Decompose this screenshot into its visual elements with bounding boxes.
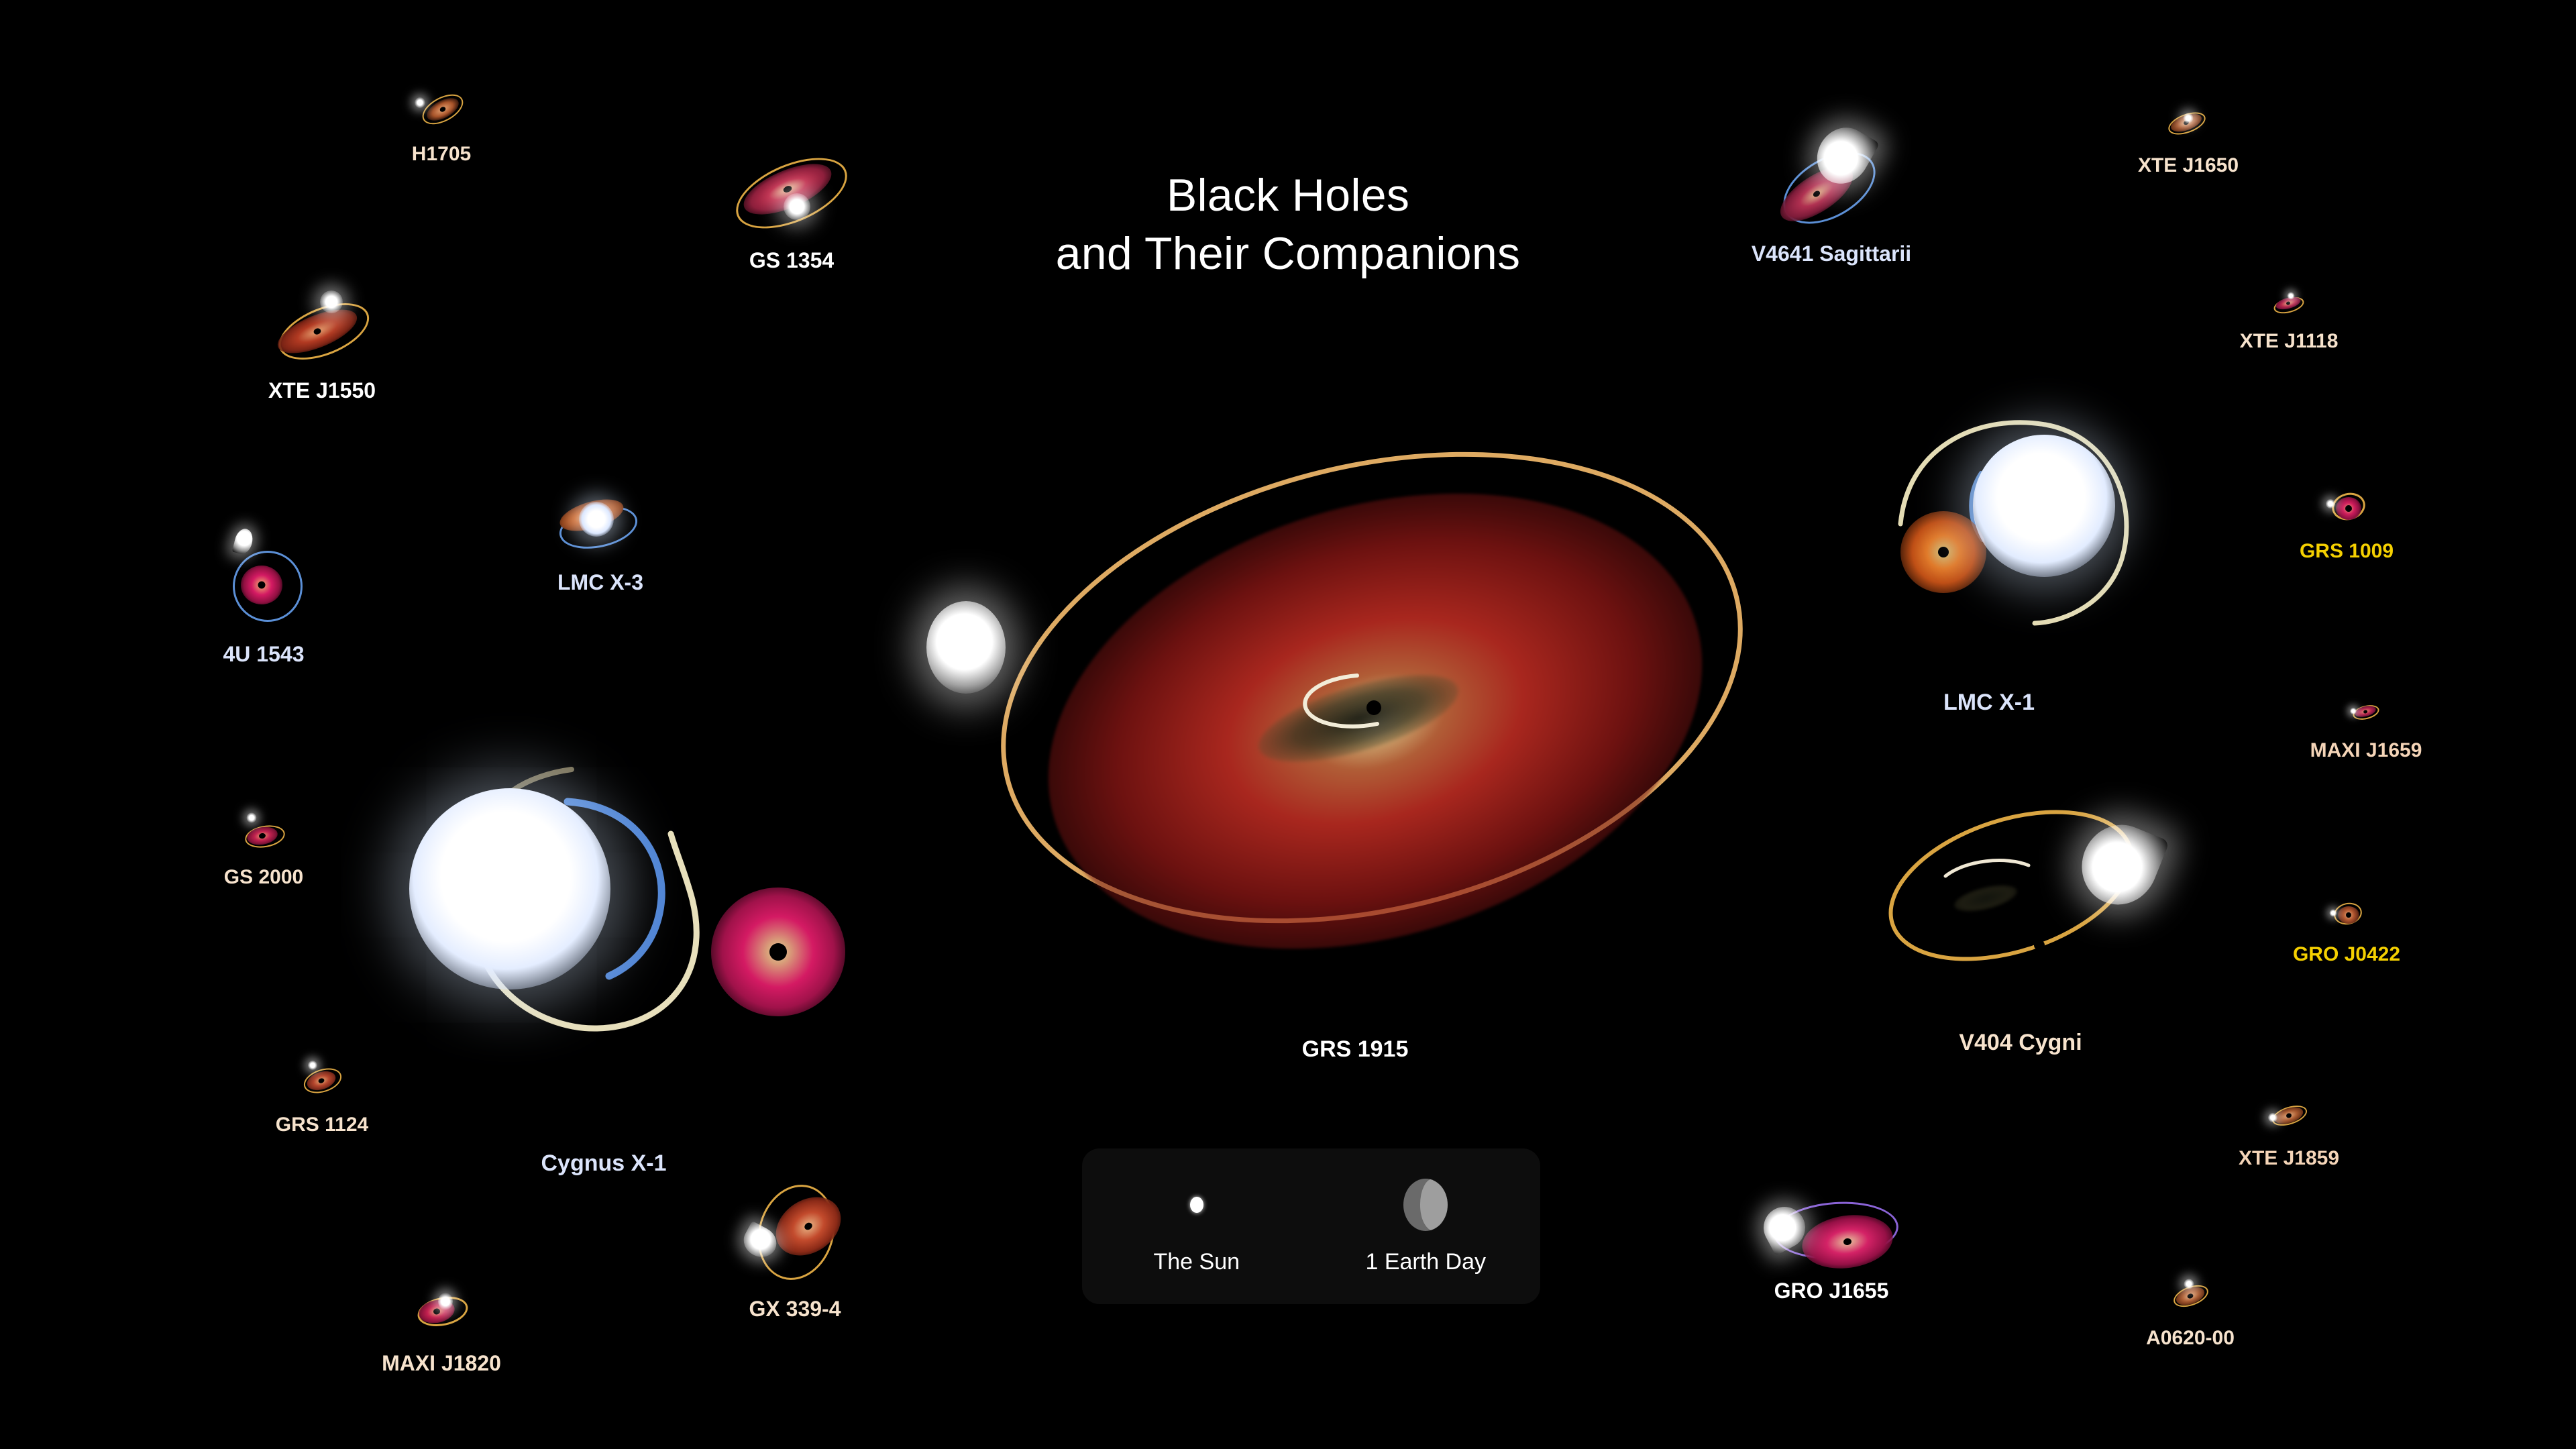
xtej1650-art [2161, 103, 2215, 141]
grs1915-companion-star [926, 601, 1006, 694]
v4641-label: V4641 Sagittarii [1752, 241, 1911, 266]
v4641-art [1754, 127, 1909, 235]
gs1354-black-hole [782, 184, 792, 193]
v404-art [1866, 785, 2175, 1006]
xtej1650-companion-star [2184, 113, 2194, 123]
groj0422-companion-star [2330, 910, 2337, 917]
grs1915-photon-ring [909, 413, 1801, 1016]
lmcx3-label: LMC X-3 [557, 570, 643, 595]
gs2000-companion-star [247, 813, 257, 823]
cygnusx1-label: Cygnus X-1 [541, 1150, 666, 1177]
groj0422-accretion-disk [2338, 906, 2359, 924]
xtej1118-companion-star [2288, 292, 2295, 300]
xtej1550-label: XTE J1550 [268, 378, 376, 403]
a0620-black-hole [2187, 1293, 2194, 1299]
maxij1820-black-hole [433, 1308, 441, 1316]
maxij1659-black-hole [2363, 709, 2367, 713]
legend-item-day: 1 Earth Day [1358, 1178, 1493, 1275]
grs1124-companion-star [308, 1061, 317, 1070]
title-line-2: and Their Companions [0, 225, 2576, 283]
grs1009-art [2320, 486, 2373, 527]
lmcx3-companion-star [579, 502, 614, 537]
gx3394-label: GX 339-4 [749, 1297, 841, 1322]
lmcx1-companion-star [1973, 435, 2115, 577]
xtej1550-black-hole [313, 327, 322, 335]
a0620-label: A0620-00 [2146, 1327, 2235, 1350]
grs1009-accretion-disk [2336, 497, 2361, 520]
grs1009-black-hole [2345, 505, 2352, 512]
gs1354-art [724, 146, 859, 240]
xtej1859-art [2262, 1096, 2316, 1134]
earth-day-phase-icon [1403, 1179, 1448, 1231]
groj1655-label: GRO J1655 [1774, 1279, 1889, 1303]
gs1354-label: GS 1354 [749, 248, 834, 273]
lmcx1-black-hole [1938, 547, 1949, 557]
xtej1859-black-hole [2286, 1112, 2292, 1118]
maxij1820-companion-star [438, 1293, 453, 1310]
legend-day-glyph [1403, 1178, 1448, 1232]
h1705-companion-star [415, 97, 425, 108]
grs1009-label: GRS 1009 [2300, 540, 2394, 563]
4u1543-companion-star [232, 527, 255, 555]
grs1124-art [295, 1060, 349, 1100]
gs2000-art [237, 814, 290, 854]
black-hole-diagram-canvas: Black Holes and Their Companions H1705 G… [0, 0, 2576, 1449]
cygnusx1-art [396, 714, 812, 1090]
4u1543-label: 4U 1543 [223, 642, 305, 667]
groj0422-art [2324, 898, 2369, 930]
lmcx3-art [550, 488, 651, 561]
groj1655-art [1754, 1176, 1909, 1277]
gx3394-art [731, 1169, 859, 1283]
cygnusx1-black-hole [769, 943, 787, 961]
lmcx1-art [1828, 398, 2150, 646]
xtej1859-companion-star [2268, 1113, 2277, 1122]
grs1915-black-hole [1366, 700, 1381, 715]
page-title: Black Holes and Their Companions [0, 166, 2576, 283]
cygnusx1-companion-star [409, 788, 610, 989]
a0620-companion-star [2184, 1279, 2194, 1289]
maxij1659-label: MAXI J1659 [2310, 739, 2422, 762]
legend-day-label: 1 Earth Day [1365, 1249, 1486, 1275]
groj1655-black-hole [1843, 1238, 1851, 1246]
4u1543-art [220, 530, 307, 631]
a0620-art [2163, 1276, 2217, 1313]
legend-item-sun: The Sun [1130, 1178, 1264, 1275]
groj0422-label: GRO J0422 [2293, 943, 2400, 966]
lmcx1-accretion-disk [1900, 511, 1986, 593]
xtej1650-label: XTE J1650 [2138, 154, 2239, 177]
xtej1118-label: XTE J1118 [2240, 330, 2339, 353]
lmcx1-label: LMC X-1 [1943, 690, 2035, 716]
maxij1820-art [405, 1283, 478, 1336]
gs2000-label: GS 2000 [224, 866, 303, 889]
xtej1118-art [2265, 288, 2312, 319]
legend-sun-glyph [1190, 1178, 1203, 1232]
4u1543-accretion-disk [241, 566, 282, 604]
xtej1118-black-hole [2286, 301, 2290, 305]
grs1915-art [909, 413, 1801, 1016]
grs1915-label: GRS 1915 [1302, 1036, 1409, 1063]
grs1124-label: GRS 1124 [276, 1114, 368, 1136]
v404-label: V404 Cygni [1959, 1030, 2082, 1056]
4u1543-black-hole [258, 582, 266, 589]
xtej1550-companion-star [320, 290, 343, 313]
xtej1550-art [262, 290, 382, 370]
gx3394-black-hole [803, 1221, 814, 1231]
legend-sun-label: The Sun [1153, 1249, 1240, 1275]
sun-dot-icon [1190, 1197, 1203, 1213]
maxij1820-label: MAXI J1820 [382, 1351, 501, 1376]
h1705-art [415, 91, 468, 128]
h1705-black-hole [439, 106, 446, 113]
maxij1659-art [2345, 696, 2387, 726]
cygnusx1-accretion-disk [711, 888, 845, 1016]
groj0422-black-hole [2346, 912, 2351, 918]
gs1354-companion-star [784, 193, 810, 220]
gs2000-black-hole [258, 833, 266, 839]
v4641-black-hole [1812, 190, 1821, 199]
scale-legend: The Sun 1 Earth Day [1082, 1148, 1540, 1304]
h1705-label: H1705 [412, 143, 471, 166]
grs1009-companion-star [2326, 499, 2335, 508]
maxij1659-companion-star [2350, 708, 2357, 714]
grs1124-black-hole [318, 1077, 325, 1083]
xtej1859-label: XTE J1859 [2239, 1147, 2339, 1170]
